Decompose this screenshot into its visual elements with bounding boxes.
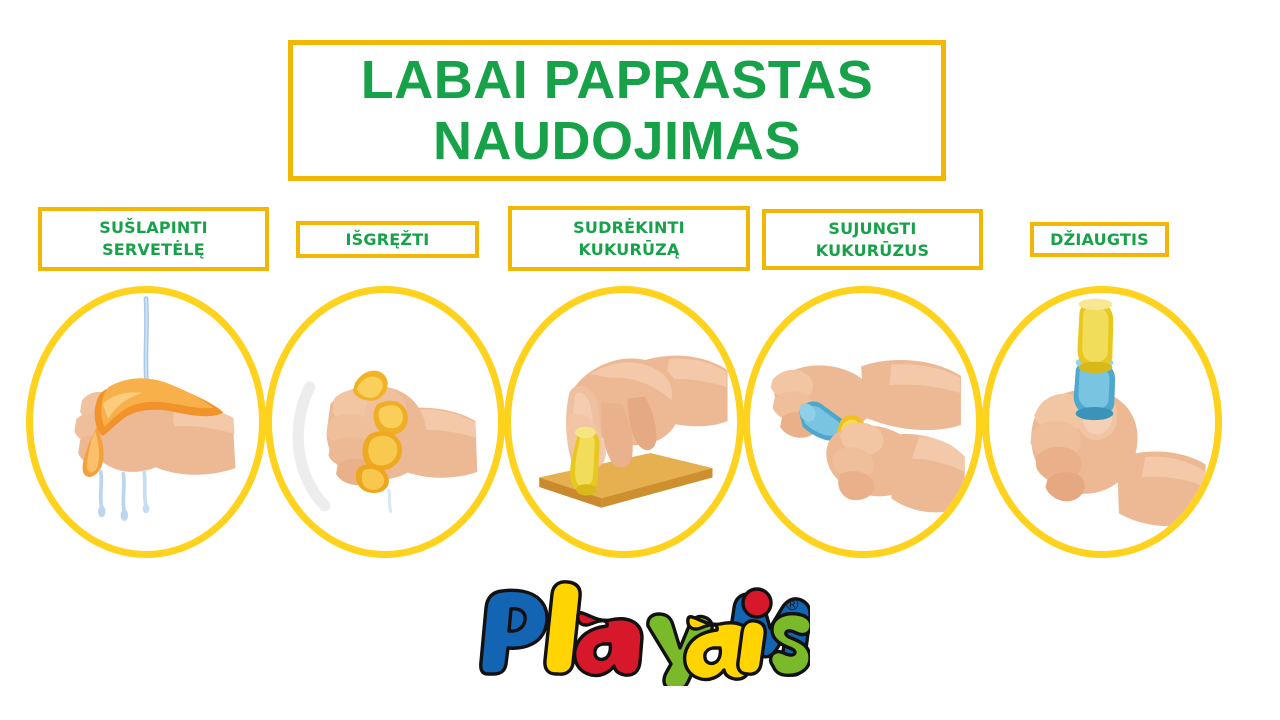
registered-trademark-mark: ® bbox=[786, 595, 799, 615]
step-illustration-1 bbox=[26, 286, 266, 558]
step-label-3: SUDRĖKINTI KUKURŪZĄ bbox=[573, 217, 685, 260]
step-label-2: IŠGRĘŽTI bbox=[346, 229, 430, 251]
infographic-page: LABAI PAPRASTAS NAUDOJIMAS SUŠLAPINTI SE… bbox=[0, 0, 1280, 720]
step-label-box-1: SUŠLAPINTI SERVETĖLĘ bbox=[38, 207, 269, 271]
step-label-box-4: SUJUNGTI KUKURŪZUS bbox=[762, 209, 983, 270]
step-illustration-4 bbox=[743, 286, 983, 558]
step-illustration-3 bbox=[504, 286, 744, 558]
step-label-4: SUJUNGTI KUKURŪZUS bbox=[816, 218, 929, 261]
wring-cloth-illustration bbox=[272, 293, 498, 549]
step-label-5: DŽIAUGTIS bbox=[1050, 229, 1149, 251]
step-label-box-2: IŠGRĘŽTI bbox=[296, 221, 479, 258]
page-title-box: LABAI PAPRASTAS NAUDOJIMAS bbox=[288, 40, 946, 181]
wet-cloth-illustration bbox=[33, 293, 259, 549]
finished-figure-illustration bbox=[989, 293, 1215, 549]
join-corn-illustration bbox=[750, 293, 976, 549]
page-title: LABAI PAPRASTAS NAUDOJIMAS bbox=[361, 50, 874, 171]
step-illustration-5 bbox=[982, 286, 1222, 558]
step-label-1: SUŠLAPINTI SERVETĖLĘ bbox=[99, 217, 208, 260]
step-illustration-2 bbox=[265, 286, 505, 558]
playmais-wordmark bbox=[470, 578, 810, 686]
step-label-box-3: SUDRĖKINTI KUKURŪZĄ bbox=[508, 206, 750, 271]
moisten-corn-illustration bbox=[511, 293, 737, 549]
playmais-logo: ® bbox=[470, 578, 810, 686]
step-label-box-5: DŽIAUGTIS bbox=[1030, 222, 1169, 257]
